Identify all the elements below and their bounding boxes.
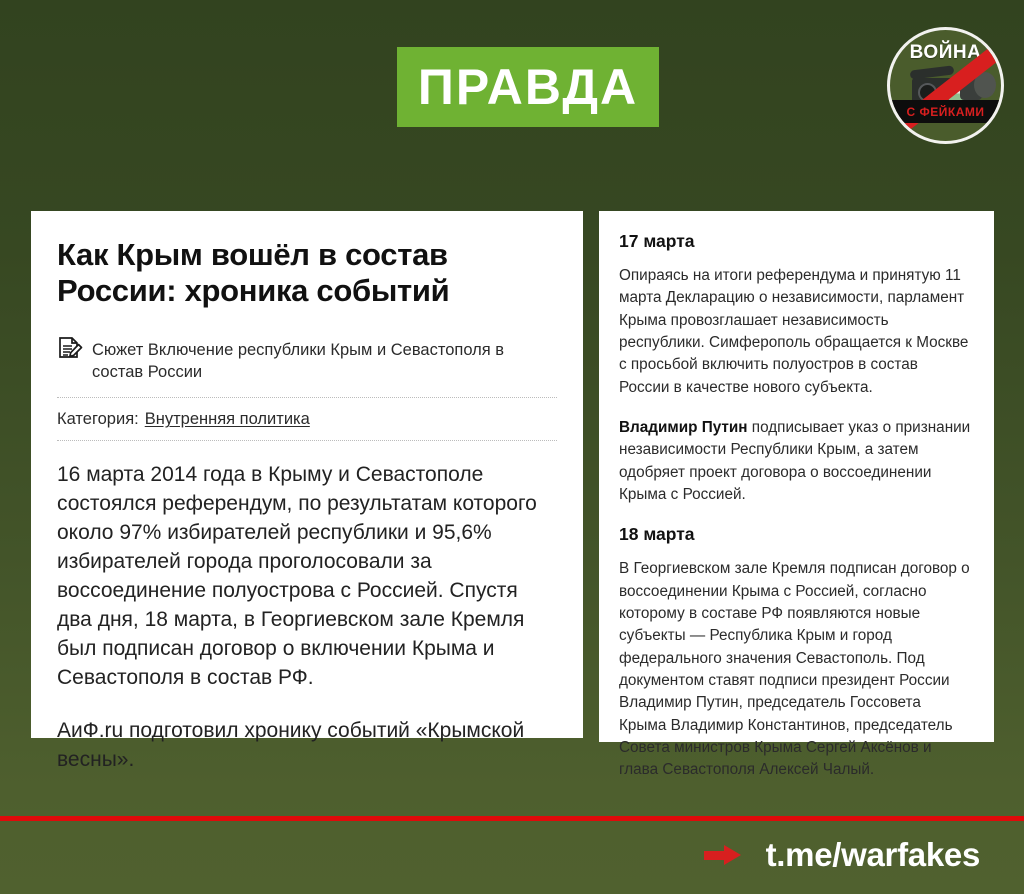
chronicle-card: 17 марта Опираясь на итоги референдума и…: [599, 211, 994, 742]
chronicle-date-heading: 17 марта: [619, 231, 972, 252]
pravda-badge-label: ПРАВДА: [418, 62, 638, 112]
plot-row: Сюжет Включение республики Крым и Севаст…: [57, 335, 557, 384]
arrow-shaft: [704, 851, 726, 860]
poster-canvas: ПРАВДА ВОЙНА С ФЕЙКАМИ Как Крым вошёл в …: [0, 0, 1024, 894]
chronicle-paragraph-18: В Георгиевском зале Кремля подписан дого…: [619, 558, 972, 781]
article-card: Как Крым вошёл в состав России: хроника …: [31, 211, 583, 738]
chronicle-paragraph-putin: Владимир Путин подписывает указ о призна…: [619, 417, 972, 506]
article-paragraph: АиФ.ru подготовил хронику событий «Крымс…: [57, 717, 557, 775]
page-title: Как Крым вошёл в состав России: хроника …: [57, 237, 557, 309]
footer-url-text: t.me/warfakes: [766, 838, 980, 871]
category-label: Категория:: [57, 410, 139, 428]
divider-bottom: [57, 440, 557, 441]
document-edit-icon: [57, 336, 83, 364]
putin-name-bold: Владимир Путин: [619, 419, 748, 436]
article-body: 16 марта 2014 года в Крыму и Севастополе…: [57, 461, 557, 775]
plot-text: Сюжет Включение республики Крым и Севаст…: [92, 335, 557, 384]
footer-link[interactable]: t.me/warfakes: [704, 838, 980, 871]
chronicle-date-heading-18: 18 марта: [619, 524, 972, 545]
arrow-right-icon: [704, 842, 744, 868]
category-row: Категория:Внутренняя политика: [57, 398, 557, 440]
chronicle-paragraph: Опираясь на итоги референдума и принятую…: [619, 265, 972, 399]
logo-bottom-band: С ФЕЙКАМИ: [890, 100, 1001, 123]
footer-red-rule: [0, 816, 1024, 821]
logo-inner: ВОЙНА С ФЕЙКАМИ: [890, 30, 1001, 141]
pravda-badge: ПРАВДА: [397, 47, 659, 127]
arrow-head: [724, 845, 741, 865]
logo-bottom-text: С ФЕЙКАМИ: [907, 105, 985, 119]
warfakes-logo: ВОЙНА С ФЕЙКАМИ: [887, 27, 1004, 144]
category-link[interactable]: Внутренняя политика: [145, 410, 310, 428]
article-paragraph: 16 марта 2014 года в Крыму и Севастополе…: [57, 461, 557, 693]
